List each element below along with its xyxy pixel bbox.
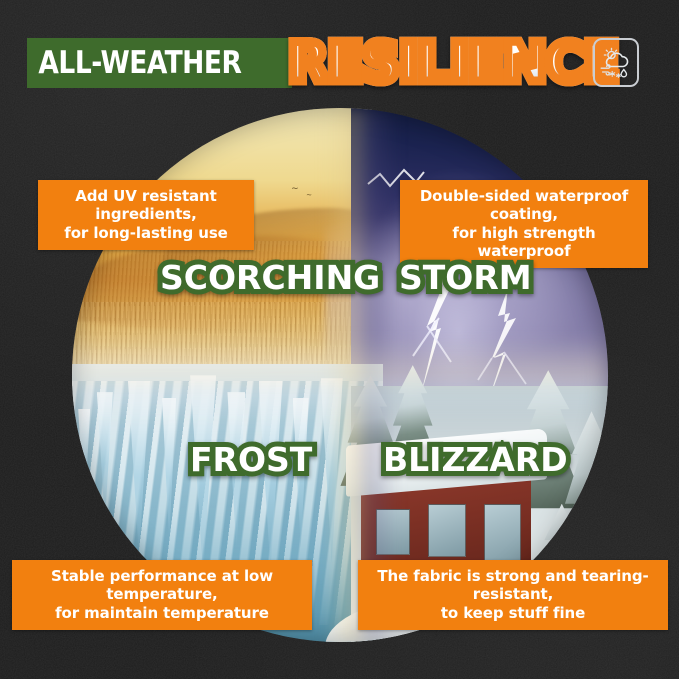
quadrant-title-blizzard: BLIZZARD: [383, 440, 568, 479]
bird-icon: ∼: [291, 183, 299, 194]
callout-blizzard-line-1: The fabric is strong and tearing-resista…: [377, 567, 648, 603]
callout-frost: Stable performance at low temperature, f…: [12, 560, 312, 630]
callout-scorching: Add UV resistant ingredients, for long-l…: [38, 180, 254, 250]
weather-resilience-poster: ALL-WEATHER RESILIENCE: [0, 0, 679, 679]
headline-green-banner: ALL-WEATHER: [27, 38, 292, 88]
poster-header: ALL-WEATHER RESILIENCE: [0, 0, 679, 112]
mixed-weather-icon: [593, 38, 639, 87]
cabin-window: [428, 504, 467, 558]
cabin-door: [484, 504, 520, 566]
callout-blizzard: The fabric is strong and tearing-resista…: [358, 560, 668, 630]
callout-blizzard-line-2: to keep stuff fine: [370, 604, 656, 622]
quadrant-title-frost: FROST: [190, 440, 312, 479]
callout-scorching-line-1: Add UV resistant ingredients,: [75, 187, 216, 223]
cabin-window: [376, 509, 409, 555]
quadrant-title-scorching: SCORCHING: [160, 258, 380, 297]
headline-all-weather: ALL-WEATHER: [27, 45, 241, 81]
callout-frost-line-1: Stable performance at low temperature,: [51, 567, 273, 603]
headline-resilience-wrap: RESILIENCE: [288, 26, 629, 98]
callout-storm-line-2: for high strength waterproof: [412, 224, 636, 261]
mixed-weather-icon-glyph: [598, 45, 634, 81]
callout-frost-line-2: for maintain temperature: [24, 604, 300, 622]
bird-icon: ∼: [306, 191, 312, 199]
headline-resilience: RESILIENCE: [288, 31, 618, 94]
callout-storm: Double-sided waterproof coating, for hig…: [400, 180, 648, 268]
callout-storm-line-1: Double-sided waterproof coating,: [420, 187, 628, 223]
quadrant-title-storm: STORM: [399, 258, 532, 297]
callout-scorching-line-2: for long-lasting use: [50, 224, 242, 242]
